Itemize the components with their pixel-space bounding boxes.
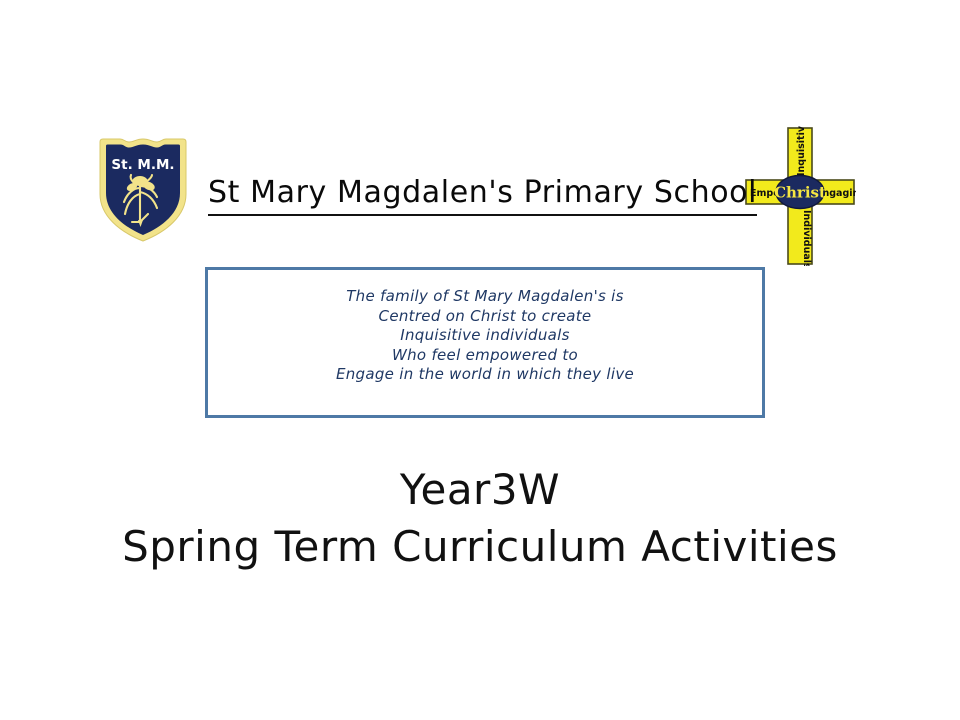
- slide-page: St. M.M.: [0, 0, 960, 720]
- school-crest-icon: St. M.M.: [96, 136, 190, 244]
- mission-line: Inquisitive individuals: [208, 326, 762, 346]
- mission-statement-text: The family of St Mary Magdalen's is Cent…: [208, 287, 762, 385]
- mission-line: The family of St Mary Magdalen's is: [208, 287, 762, 307]
- mission-line: Who feel empowered to: [208, 346, 762, 366]
- mission-line: Centred on Christ to create: [208, 307, 762, 327]
- cross-arm-bottom-text: Individuals: [801, 210, 812, 266]
- mission-line: Engage in the world in which they live: [208, 365, 762, 385]
- cross-arm-top-text: Inquisitive: [796, 126, 807, 176]
- page-title: St Mary Magdalen's Primary School: [208, 176, 728, 216]
- document-title-line1: Year3W: [0, 462, 960, 518]
- mission-statement-box: The family of St Mary Magdalen's is Cent…: [205, 267, 765, 418]
- document-title: Year3W Spring Term Curriculum Activities: [0, 462, 960, 576]
- document-title-line2: Spring Term Curriculum Activities: [0, 518, 960, 576]
- cross-center-text: Christ: [774, 184, 826, 202]
- values-cross-icon: Inquisitive Empowering Engaging Individu…: [744, 126, 856, 266]
- school-name-text: St Mary Magdalen's Primary School: [208, 176, 757, 216]
- crest-initials-text: St. M.M.: [111, 157, 174, 173]
